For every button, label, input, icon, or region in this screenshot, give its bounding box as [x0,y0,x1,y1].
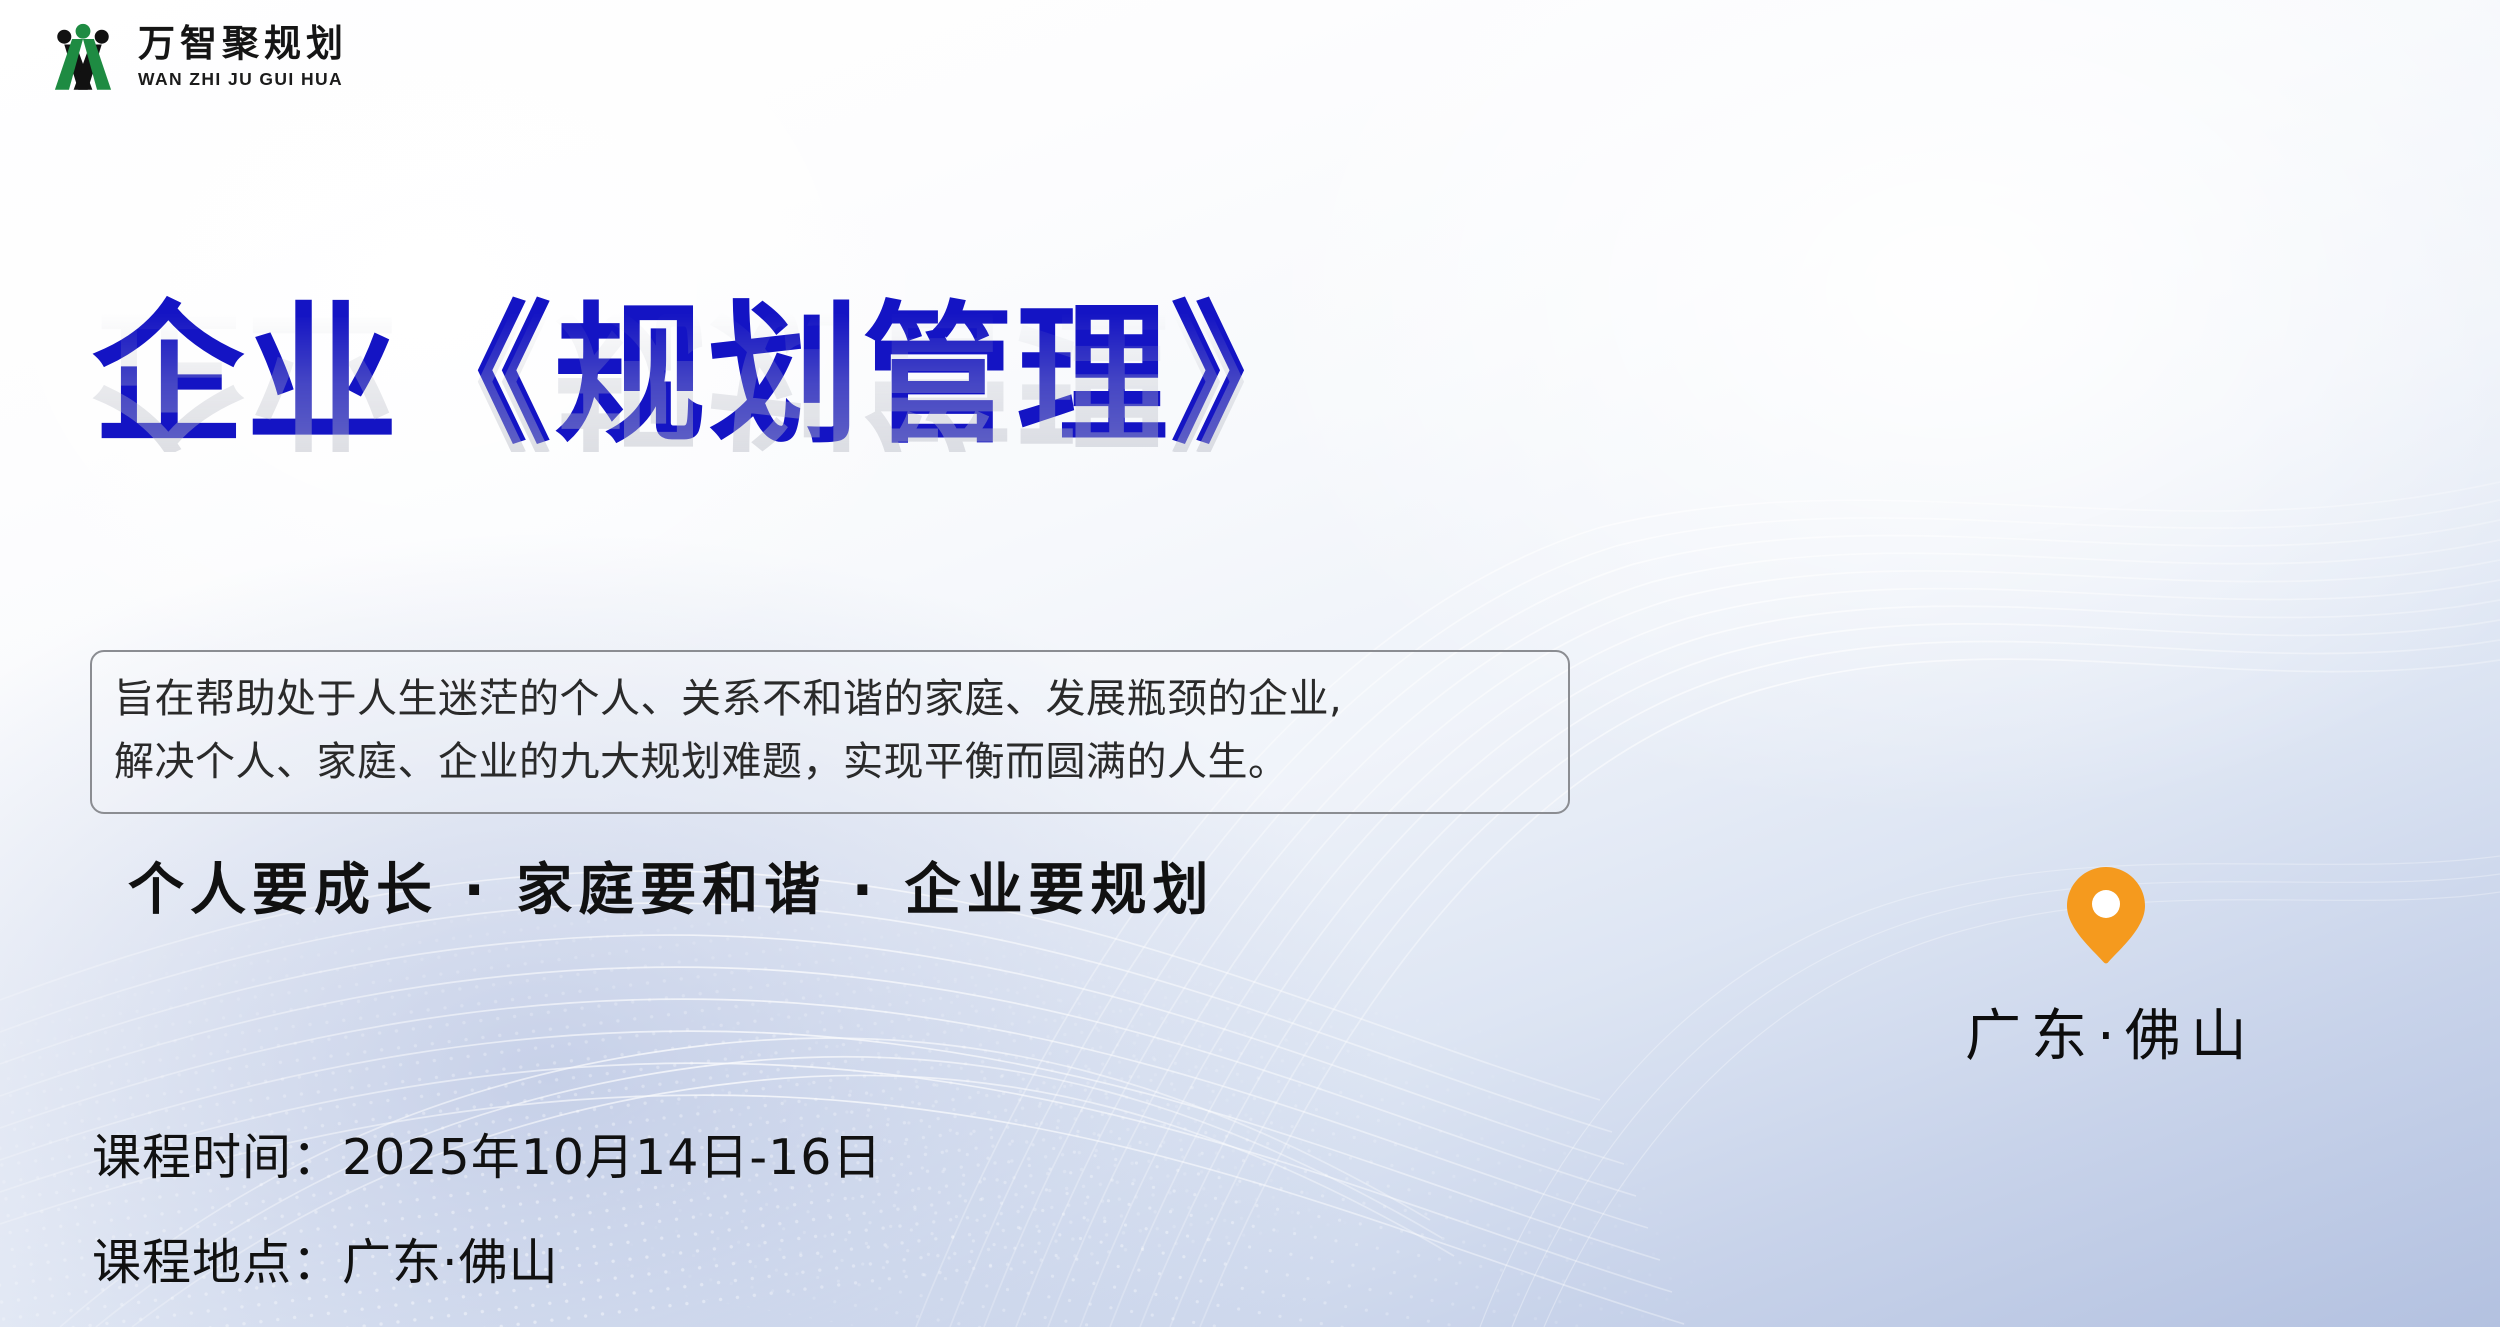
page-title: 企业《规划管理》 [92,300,1324,452]
brand-logo: 万智聚规划 WAN ZHI JU GUI HUA [44,18,348,96]
description-box: 旨在帮助处于人生迷茫的个人、关系不和谐的家庭、发展瓶颈的企业, 解决个人、家庭、… [90,650,1570,814]
brand-name-en: WAN ZHI JU GUI HUA [138,71,348,89]
map-pin-icon [2064,865,2148,965]
course-place: 课程地点：广东·佛山 [92,1223,882,1294]
three-people-m-logo-icon [44,18,122,96]
location-block: 广东·佛山 [1955,865,2257,1072]
poster-canvas: 万智聚规划 WAN ZHI JU GUI HUA 企业《规划管理》 企业《规划管… [0,0,2500,1327]
description-line-2: 解决个人、家庭、企业的九大规划难题，实现平衡而圆满的人生。 [114,731,1546,794]
hero-title-block: 企业《规划管理》 企业《规划管理》 [92,300,1324,604]
course-time: 课程时间：2025年10月14日-16日 [92,1118,882,1189]
location-label: 广东·佛山 [1955,991,2257,1072]
brand-name-cn: 万智聚规划 [138,25,348,62]
description-line-1: 旨在帮助处于人生迷茫的个人、关系不和谐的家庭、发展瓶颈的企业, [114,668,1546,731]
course-info-block: 课程时间：2025年10月14日-16日 课程地点：广东·佛山 [92,1118,882,1294]
tagline: 个人要成长 · 家庭要和谐 · 企业要规划 [128,845,1215,926]
